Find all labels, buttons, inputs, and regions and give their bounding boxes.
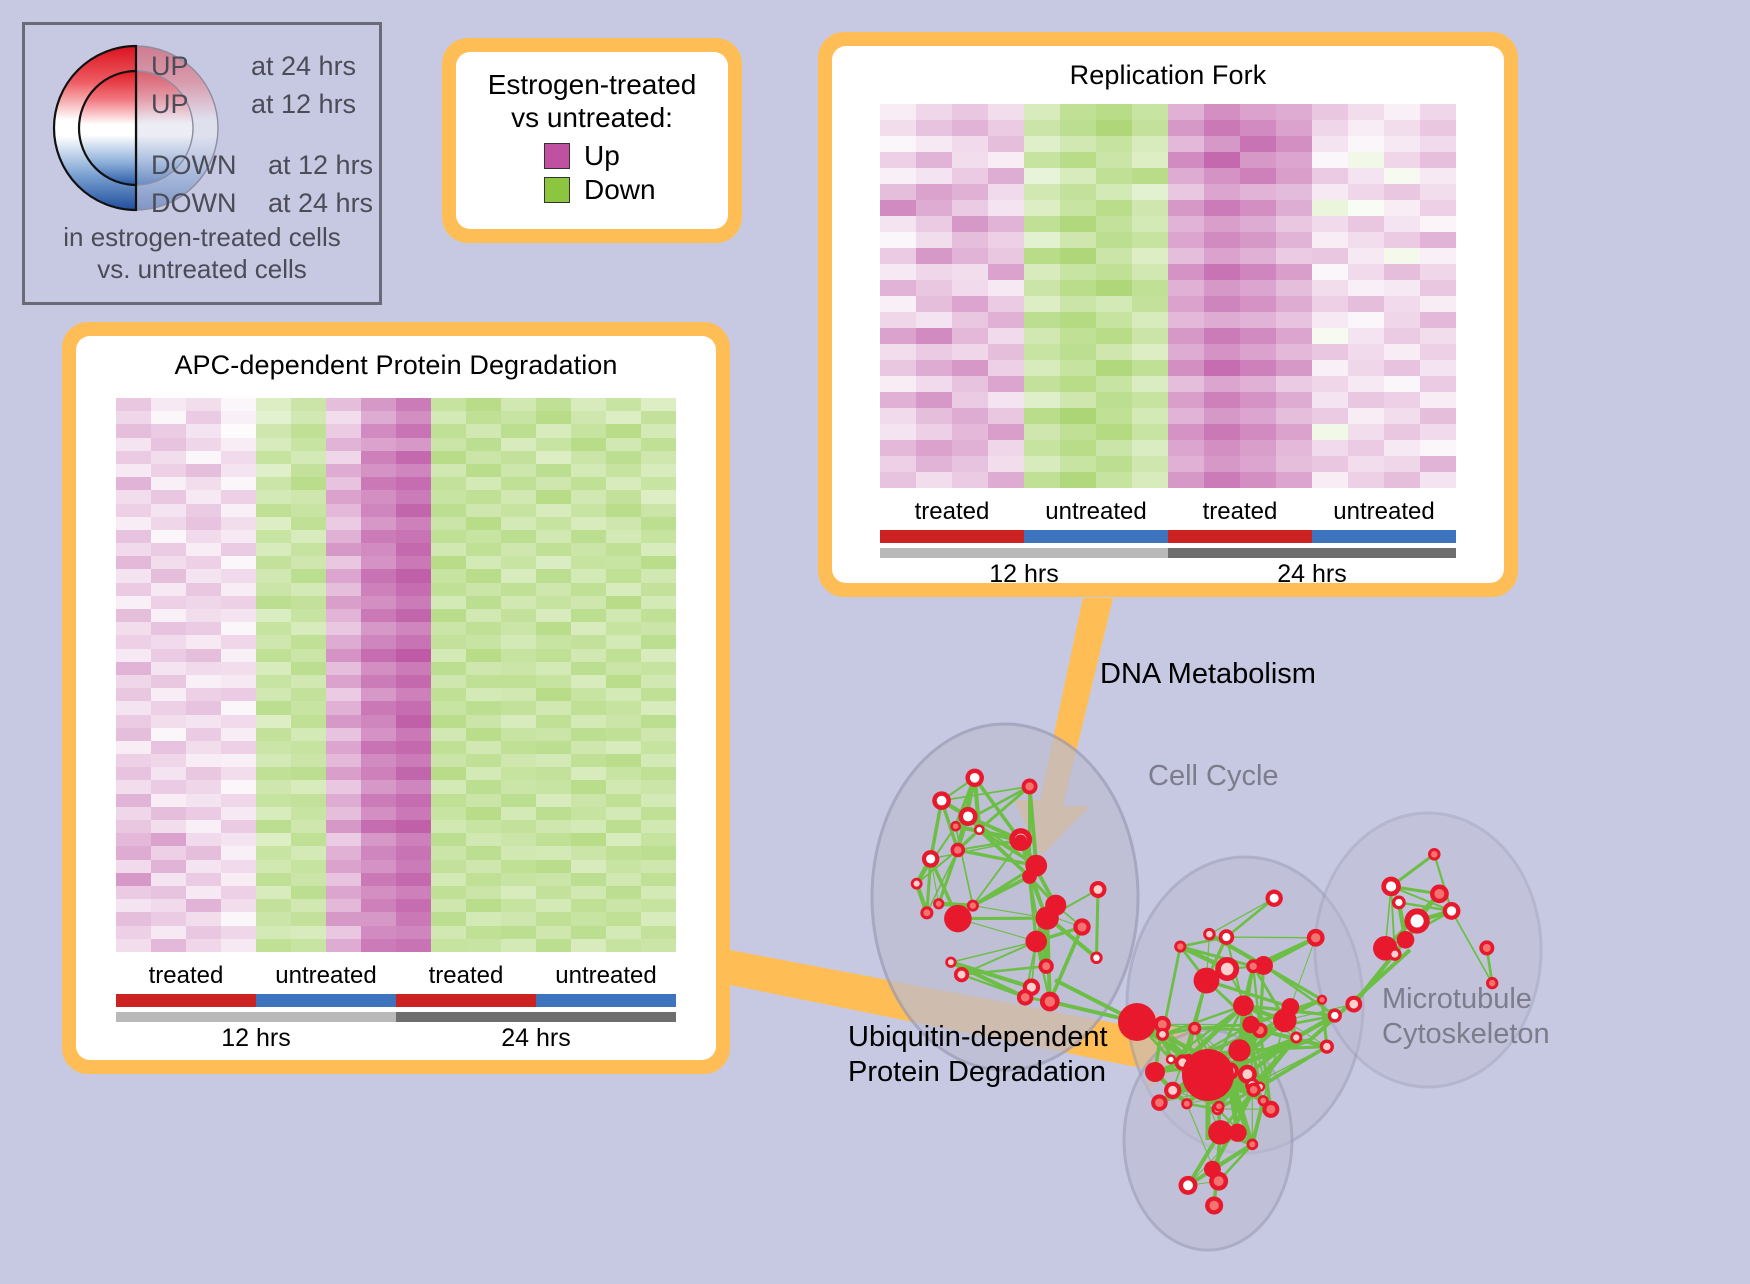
network-node[interactable] — [1164, 1082, 1181, 1099]
network-node[interactable] — [1045, 895, 1066, 916]
legend-inner: Estrogen-treated vs untreated: Up Down — [456, 52, 728, 229]
cluster-label-cell-cycle: Cell Cycle — [1148, 760, 1279, 793]
network-svg — [790, 620, 1750, 1279]
replication-fork-axis: treated untreated treated untreated 12 h… — [880, 498, 1456, 589]
network-node[interactable] — [965, 769, 984, 788]
cluster-label-dna-metabolism: DNA Metabolism — [1100, 658, 1316, 691]
network-node[interactable] — [1392, 896, 1406, 910]
legend-title-line1: Estrogen-treated — [466, 68, 718, 101]
figure-canvas: UP at 24 hrs UP at 12 hrs DOWN at 12 hrs… — [0, 0, 1750, 1279]
apc-panel: APC-dependent Protein Degradation treate… — [62, 322, 730, 1074]
network-node[interactable] — [1290, 1031, 1302, 1043]
updown-legend-panel: Estrogen-treated vs untreated: Up Down — [442, 38, 742, 243]
network-node[interactable] — [945, 957, 956, 968]
network-node[interactable] — [974, 824, 985, 835]
network-node[interactable] — [1014, 835, 1027, 848]
network-node[interactable] — [958, 807, 977, 826]
legend-label-up: Up — [584, 140, 620, 172]
apc-axis: treated untreated treated untreated 12 h… — [116, 962, 676, 1053]
network-node[interactable] — [1307, 929, 1325, 947]
network-node[interactable] — [1182, 1049, 1234, 1101]
network-node[interactable] — [1228, 1039, 1250, 1061]
apc-treatment-bar — [116, 994, 676, 1007]
key-footer-line2: vs. untreated cells — [25, 253, 379, 285]
network-edge — [1096, 890, 1098, 958]
network-node[interactable] — [1282, 998, 1300, 1016]
key-time-0: at 24 hrs — [251, 51, 356, 82]
network-node[interactable] — [1194, 968, 1220, 994]
network-node[interactable] — [944, 905, 972, 933]
network-node[interactable] — [1233, 995, 1254, 1016]
network-node[interactable] — [967, 900, 979, 912]
legend-title-line2: vs untreated: — [466, 101, 718, 134]
key-direction-0: UP — [151, 51, 189, 82]
replication-fork-panel: Replication Fork treated untreated treat… — [818, 32, 1518, 597]
rf-group-label-2: treated — [1168, 498, 1312, 526]
network-node[interactable] — [1328, 1008, 1342, 1022]
replication-fork-inner: Replication Fork treated untreated treat… — [832, 46, 1504, 583]
network-node[interactable] — [1156, 1028, 1169, 1041]
network-node[interactable] — [1174, 940, 1186, 952]
network-node[interactable] — [933, 898, 944, 909]
apc-group-label-1: untreated — [256, 962, 396, 990]
apc-heatmap — [116, 398, 676, 952]
rf-time-label-1: 24 hrs — [1168, 560, 1456, 589]
network-node[interactable] — [1219, 929, 1235, 945]
replication-fork-title: Replication Fork — [832, 46, 1504, 91]
network-node[interactable] — [920, 906, 933, 919]
network-node[interactable] — [1118, 1003, 1156, 1041]
rf-time-label-0: 12 hrs — [880, 560, 1168, 589]
apc-time-label-1: 24 hrs — [396, 1024, 676, 1053]
network-node[interactable] — [1479, 940, 1494, 955]
network-node[interactable] — [1179, 1176, 1198, 1195]
network-node[interactable] — [1430, 884, 1449, 903]
network-node[interactable] — [1204, 1161, 1221, 1178]
legend-item-up: Up — [544, 140, 718, 172]
network-node[interactable] — [1022, 779, 1038, 795]
network-node[interactable] — [1320, 1039, 1334, 1053]
network-node[interactable] — [1443, 902, 1461, 920]
key-footer-line1: in estrogen-treated cells — [25, 221, 379, 253]
network-node[interactable] — [1090, 952, 1102, 964]
apc-inner: APC-dependent Protein Degradation treate… — [76, 336, 716, 1060]
key-time-1: at 12 hrs — [251, 89, 356, 120]
network-node[interactable] — [1181, 1098, 1192, 1109]
network-node[interactable] — [922, 850, 940, 868]
apc-group-label-0: treated — [116, 962, 256, 990]
network-node[interactable] — [1428, 848, 1441, 861]
network-node[interactable] — [1258, 1095, 1269, 1106]
key-footer: in estrogen-treated cells vs. untreated … — [25, 221, 379, 285]
network-node[interactable] — [1317, 995, 1327, 1005]
legend-items: Up Down — [466, 140, 718, 206]
network-node[interactable] — [1040, 992, 1060, 1012]
apc-title: APC-dependent Protein Degradation — [76, 336, 716, 381]
network-node[interactable] — [1404, 908, 1429, 933]
color-key-box: UP at 24 hrs UP at 12 hrs DOWN at 12 hrs… — [22, 22, 382, 305]
network-node[interactable] — [1388, 947, 1401, 960]
network-node[interactable] — [1025, 931, 1047, 953]
down-swatch-icon — [544, 177, 570, 203]
network-node[interactable] — [1205, 1196, 1223, 1214]
rf-treatment-bar — [880, 530, 1456, 543]
network-edge — [1226, 937, 1315, 938]
network-node[interactable] — [1203, 928, 1215, 940]
network-node[interactable] — [1025, 855, 1047, 877]
key-direction-3: DOWN — [151, 188, 236, 219]
network-node[interactable] — [1090, 881, 1107, 898]
key-direction-2: DOWN — [151, 150, 236, 181]
network-node[interactable] — [954, 967, 969, 982]
network-node[interactable] — [1017, 989, 1033, 1005]
network-node[interactable] — [1073, 918, 1090, 935]
network-node[interactable] — [1246, 959, 1260, 973]
network-node[interactable] — [1397, 931, 1415, 949]
network-node[interactable] — [950, 821, 961, 832]
network-node[interactable] — [1188, 1022, 1201, 1035]
up-swatch-icon — [544, 143, 570, 169]
rf-group-label-3: untreated — [1312, 498, 1456, 526]
network-node[interactable] — [1247, 1139, 1259, 1151]
network-node[interactable] — [1265, 890, 1282, 907]
network-node[interactable] — [1228, 1124, 1246, 1142]
cluster-label-microtubule-cytoskeleton: Microtubule Cytoskeleton — [1382, 982, 1550, 1052]
network-node[interactable] — [1381, 877, 1401, 897]
rf-time-labels: 12 hrs 24 hrs — [880, 560, 1456, 589]
key-direction-1: UP — [151, 89, 189, 120]
legend-item-down: Down — [544, 174, 718, 206]
replication-fork-heatmap — [880, 104, 1456, 488]
apc-group-labels: treated untreated treated untreated — [116, 962, 676, 990]
rf-group-labels: treated untreated treated untreated — [880, 498, 1456, 526]
network-node[interactable] — [1151, 1094, 1168, 1111]
rf-group-label-1: untreated — [1024, 498, 1168, 526]
network-node[interactable] — [1214, 1101, 1225, 1112]
cluster-label-ubiquitin-protein-degradation: Ubiquitin-dependent Protein Degradation — [848, 1020, 1108, 1091]
key-time-3: at 24 hrs — [268, 188, 373, 219]
apc-time-bar — [116, 1012, 676, 1022]
network-node[interactable] — [1242, 1016, 1259, 1033]
key-time-2: at 12 hrs — [268, 150, 373, 181]
apc-time-labels: 12 hrs 24 hrs — [116, 1024, 676, 1053]
network-node[interactable] — [1246, 1083, 1260, 1097]
network-node[interactable] — [932, 791, 951, 810]
network-node[interactable] — [950, 843, 965, 858]
network-node[interactable] — [1345, 996, 1362, 1013]
network-node[interactable] — [1166, 1054, 1176, 1064]
legend-label-down: Down — [584, 174, 656, 206]
gene-network-diagram: DNA Metabolism Cell Cycle Microtubule Cy… — [790, 620, 1750, 1279]
apc-time-label-0: 12 hrs — [116, 1024, 396, 1053]
rf-group-label-0: treated — [880, 498, 1024, 526]
network-node[interactable] — [1039, 959, 1054, 974]
rf-time-bar — [880, 548, 1456, 558]
legend-title: Estrogen-treated vs untreated: — [466, 68, 718, 134]
apc-group-label-3: untreated — [536, 962, 676, 990]
network-node[interactable] — [1145, 1062, 1165, 1082]
network-node[interactable] — [911, 878, 923, 890]
apc-group-label-2: treated — [396, 962, 536, 990]
